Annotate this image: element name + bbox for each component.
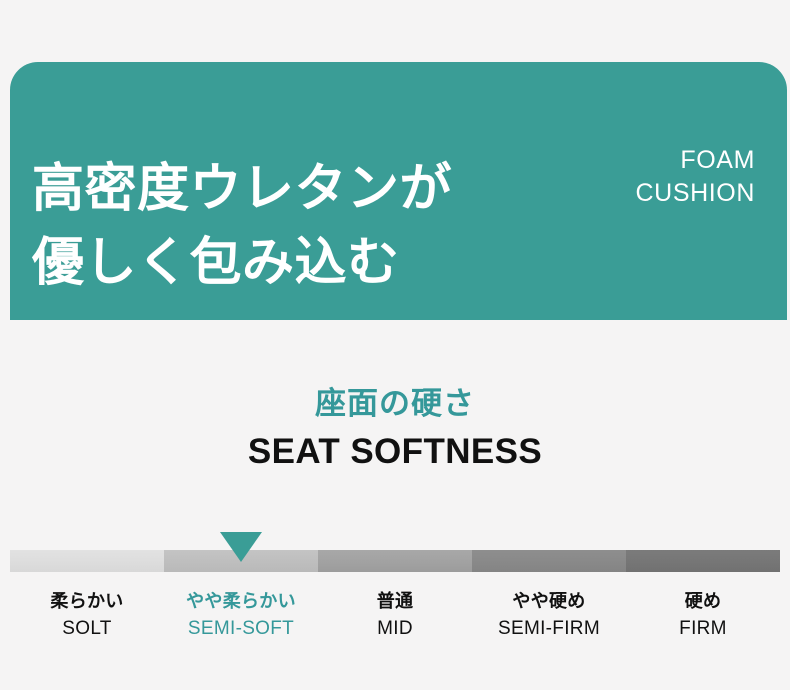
seat-softness-heading-en: SEAT SOFTNESS	[0, 432, 790, 472]
foam-cushion-hero-banner: 高密度ウレタンが 優しく包み込む FOAM CUSHION	[10, 62, 787, 320]
softness-label-firm[interactable]: 硬め FIRM	[626, 588, 780, 644]
softness-label-ja: 普通	[318, 588, 472, 615]
softness-label-en: SEMI-SOFT	[164, 615, 318, 644]
softness-label-ja: 柔らかい	[10, 588, 164, 615]
seat-softness-section: 座面の硬さ SEAT SOFTNESS 柔らかい SOLT やや柔らかい SEM…	[0, 320, 790, 690]
softness-segment-mid[interactable]	[318, 550, 472, 572]
seat-softness-heading-ja: 座面の硬さ	[0, 386, 790, 422]
softness-label-en: SOLT	[10, 615, 164, 644]
softness-label-ja: やや柔らかい	[164, 588, 318, 615]
hero-kicker-label: FOAM CUSHION	[636, 144, 755, 210]
seat-softness-headings: 座面の硬さ SEAT SOFTNESS	[0, 320, 790, 472]
hero-title: 高密度ウレタンが 優しく包み込む	[32, 153, 452, 301]
softness-segment-semi-firm[interactable]	[472, 550, 626, 572]
softness-label-en: MID	[318, 615, 472, 644]
softness-label-en: FIRM	[626, 615, 780, 644]
softness-label-semi-soft[interactable]: やや柔らかい SEMI-SOFT	[164, 588, 318, 644]
softness-segment-solt[interactable]	[10, 550, 164, 572]
softness-segment-firm[interactable]	[626, 550, 780, 572]
softness-label-semi-firm[interactable]: やや硬め SEMI-FIRM	[472, 588, 626, 644]
softness-label-ja: やや硬め	[472, 588, 626, 615]
softness-scale: 柔らかい SOLT やや柔らかい SEMI-SOFT 普通 MID やや硬め S…	[10, 550, 780, 644]
softness-label-mid[interactable]: 普通 MID	[318, 588, 472, 644]
softness-label-en: SEMI-FIRM	[472, 615, 626, 644]
softness-scale-labels: 柔らかい SOLT やや柔らかい SEMI-SOFT 普通 MID やや硬め S…	[10, 588, 780, 644]
softness-gradient-bar	[10, 550, 780, 572]
down-triangle-marker-icon	[220, 532, 262, 562]
softness-label-ja: 硬め	[626, 588, 780, 615]
softness-label-solt[interactable]: 柔らかい SOLT	[10, 588, 164, 644]
